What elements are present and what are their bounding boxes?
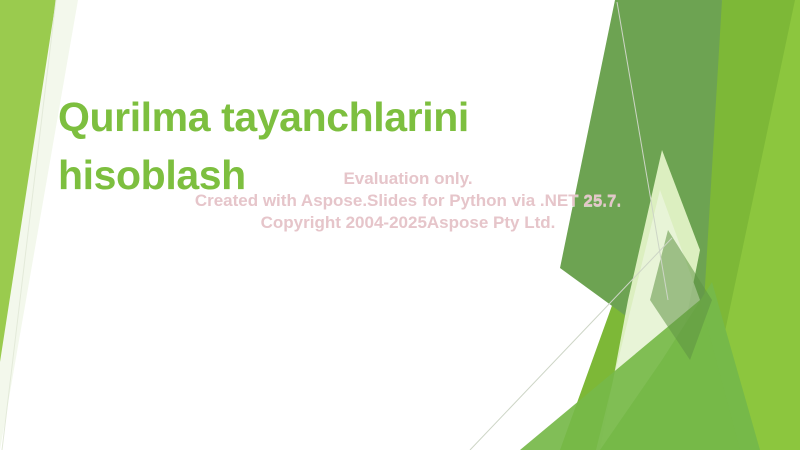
bottom-mid-green-wedge xyxy=(520,300,740,450)
left-pale-wedge xyxy=(0,0,78,450)
right-mid-green-triangle xyxy=(600,282,760,450)
title-line-1: Qurilma tayanchlarini xyxy=(58,88,478,146)
hairline-upper-diagonal xyxy=(617,2,668,300)
hairline-left-wedge-edge xyxy=(2,0,56,450)
watermark-line-3: Copyright 2004-2025Aspose Pty Ltd. xyxy=(118,212,698,234)
watermark-line-1: Evaluation only. xyxy=(118,168,698,190)
presentation-slide: Qurilma tayanchlarini hisoblash Evaluati… xyxy=(0,0,800,450)
watermark-line-2: Created with Aspose.Slides for Python vi… xyxy=(118,190,698,212)
left-green-wedge xyxy=(0,0,56,362)
right-overlap-shadow xyxy=(650,230,712,360)
evaluation-watermark: Evaluation only. Created with Aspose.Sli… xyxy=(118,168,698,234)
hairline-lower-diagonal xyxy=(470,238,672,450)
